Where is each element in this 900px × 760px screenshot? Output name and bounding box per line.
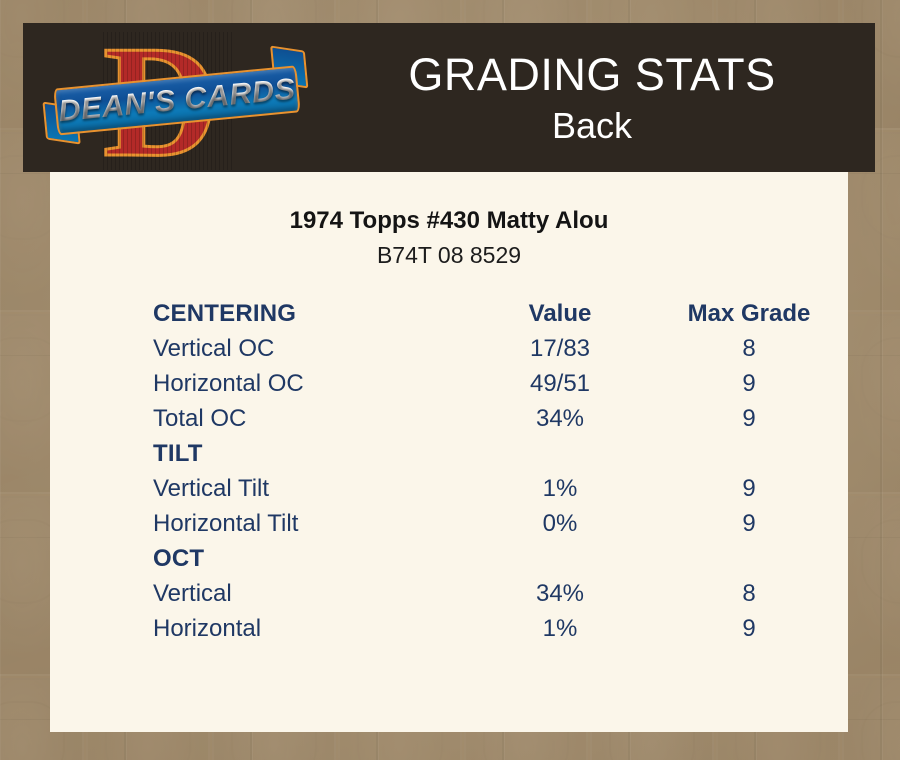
stat-max-grade: 8 xyxy=(650,331,848,366)
stat-label: Vertical OC xyxy=(50,331,470,366)
stat-label: Horizontal OC xyxy=(50,366,470,401)
stat-label: Vertical Tilt xyxy=(50,471,470,506)
page-title: GRADING STATS xyxy=(408,48,775,102)
deans-cards-logo[interactable]: D DEAN'S CARDS xyxy=(47,25,309,170)
stat-label: Vertical xyxy=(50,576,470,611)
stat-value: 34% xyxy=(470,576,650,611)
stat-max-grade: 8 xyxy=(650,576,848,611)
stat-value: 0% xyxy=(470,506,650,541)
page-subtitle: Back xyxy=(552,104,632,148)
stat-value: 1% xyxy=(470,611,650,646)
table-row: Horizontal Tilt0%9 xyxy=(50,506,848,541)
card-title: 1974 Topps #430 Matty Alou xyxy=(50,206,848,236)
section-header-row: OCT xyxy=(50,541,848,576)
column-header-value xyxy=(470,436,650,471)
stat-max-grade: 9 xyxy=(650,366,848,401)
column-header-max-grade xyxy=(650,541,848,576)
stat-max-grade: 9 xyxy=(650,401,848,436)
stat-label: Total OC xyxy=(50,401,470,436)
table-row: Vertical OC17/838 xyxy=(50,331,848,366)
column-header-value xyxy=(470,541,650,576)
grading-stats-body: CENTERINGValueMax GradeVertical OC17/838… xyxy=(50,296,848,646)
grading-stats-table: CENTERINGValueMax GradeVertical OC17/838… xyxy=(50,296,848,646)
header-titles: GRADING STATS Back xyxy=(309,23,875,172)
stat-max-grade: 9 xyxy=(650,611,848,646)
header-bar: D DEAN'S CARDS GRADING STATS Back xyxy=(23,23,875,172)
column-header-max-grade: Max Grade xyxy=(650,296,848,331)
stat-max-grade: 9 xyxy=(650,506,848,541)
section-name: CENTERING xyxy=(50,296,470,331)
table-row: Vertical34%8 xyxy=(50,576,848,611)
section-name: TILT xyxy=(50,436,470,471)
stat-value: 49/51 xyxy=(470,366,650,401)
section-header-row: CENTERINGValueMax Grade xyxy=(50,296,848,331)
section-header-row: TILT xyxy=(50,436,848,471)
table-row: Vertical Tilt1%9 xyxy=(50,471,848,506)
column-header-max-grade xyxy=(650,436,848,471)
section-name: OCT xyxy=(50,541,470,576)
table-row: Horizontal OC49/519 xyxy=(50,366,848,401)
table-row: Horizontal1%9 xyxy=(50,611,848,646)
stat-label: Horizontal xyxy=(50,611,470,646)
stat-max-grade: 9 xyxy=(650,471,848,506)
table-row: Total OC34%9 xyxy=(50,401,848,436)
stat-value: 34% xyxy=(470,401,650,436)
stat-value: 1% xyxy=(470,471,650,506)
stat-label: Horizontal Tilt xyxy=(50,506,470,541)
content-panel: 1974 Topps #430 Matty Alou B74T 08 8529 … xyxy=(50,172,848,732)
column-header-value: Value xyxy=(470,296,650,331)
card-code: B74T 08 8529 xyxy=(50,240,848,270)
stat-value: 17/83 xyxy=(470,331,650,366)
